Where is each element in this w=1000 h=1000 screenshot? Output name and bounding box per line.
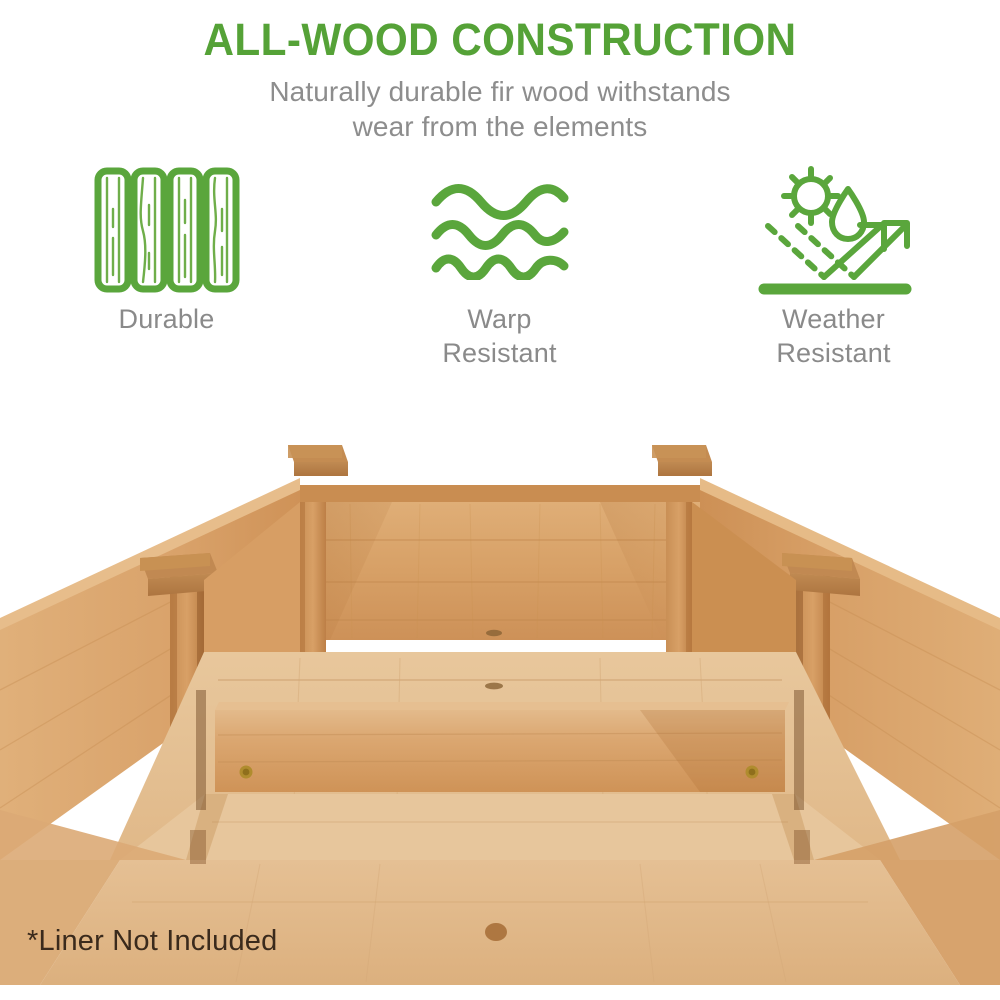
feature-label-warp-resistant: Warp Resistant — [333, 302, 666, 370]
feature-label-durable: Durable — [0, 302, 333, 336]
sun-water-deflect-icon — [667, 160, 1000, 300]
feature-label-line-2: Resistant — [333, 336, 666, 370]
product-photo — [0, 390, 1000, 985]
feature-label-weather-resistant: Weather Resistant — [667, 302, 1000, 370]
feature-label-line-1: Weather — [667, 302, 1000, 336]
wood-planks-icon — [0, 160, 333, 300]
feature-weather-resistant: Weather Resistant — [667, 160, 1000, 370]
page-title: ALL-WOOD CONSTRUCTION — [30, 14, 970, 66]
page-subtitle: Naturally durable fir wood withstands we… — [0, 74, 1000, 144]
feature-label-line-2: Resistant — [667, 336, 1000, 370]
subtitle-line-1: Naturally durable fir wood withstands — [0, 74, 1000, 109]
bottom-white-band — [0, 985, 1000, 1000]
feature-durable: Durable — [0, 160, 333, 336]
infographic-root: ALL-WOOD CONSTRUCTION Naturally durable … — [0, 0, 1000, 1000]
feature-label-line-1: Durable — [0, 302, 333, 336]
feature-label-line-1: Warp — [333, 302, 666, 336]
subtitle-line-2: wear from the elements — [0, 109, 1000, 144]
wavy-lines-icon — [333, 160, 666, 300]
feature-warp-resistant: Warp Resistant — [333, 160, 666, 370]
feature-row: Durable Warp Resistant — [0, 160, 1000, 390]
liner-not-included-note: *Liner Not Included — [27, 925, 277, 958]
